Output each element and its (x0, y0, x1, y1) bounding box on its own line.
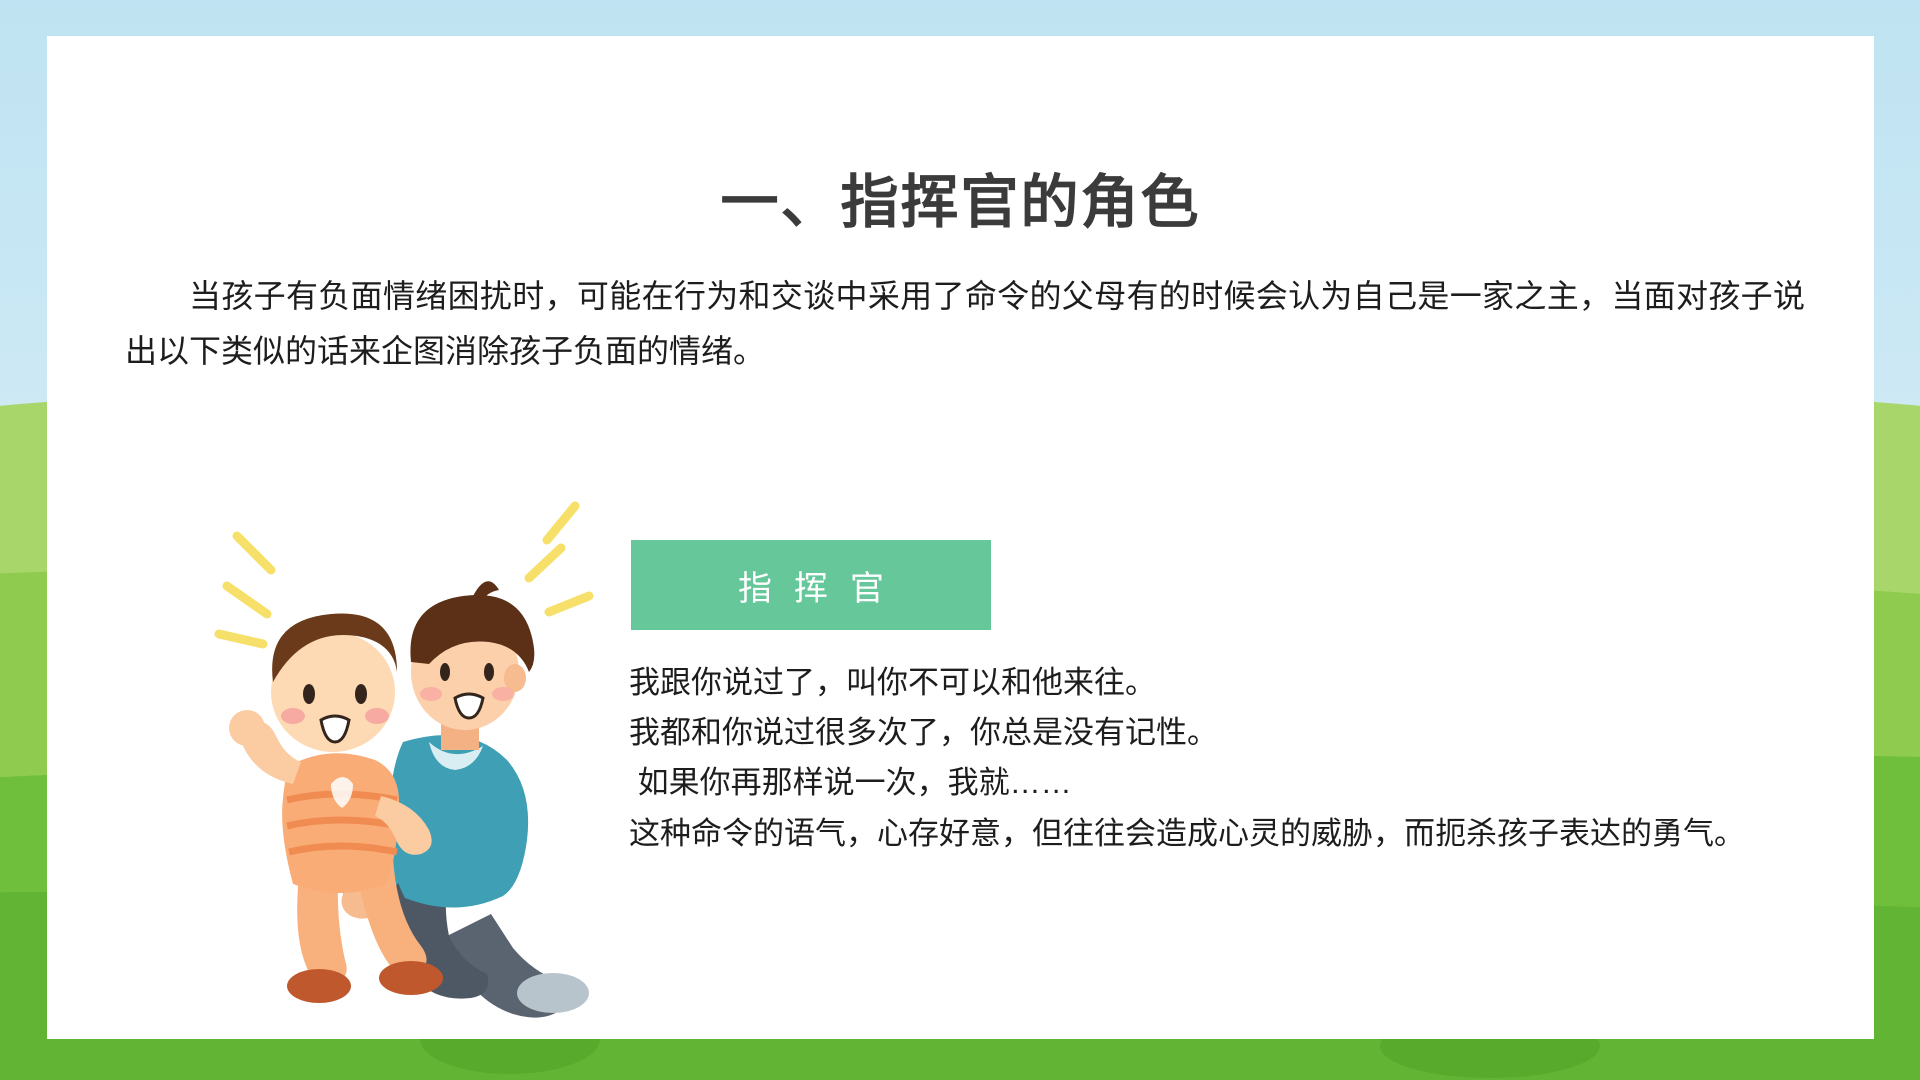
toddler-eye-left (303, 684, 315, 704)
toddler-shoe-left (287, 969, 351, 1003)
intro-paragraph: 当孩子有负面情绪困扰时，可能在行为和交谈中采用了命令的父母有的时候会认为自己是一… (125, 269, 1805, 379)
father-holding-toddler-illustration (197, 466, 617, 1026)
slide-canvas: 一、指挥官的角色 当孩子有负面情绪困扰时，可能在行为和交谈中采用了命令的父母有的… (0, 0, 1920, 1080)
list-item: 我都和你说过很多次了，你总是没有记性。 (629, 708, 1809, 758)
toddler-hand-left (229, 710, 265, 746)
page-title: 一、指挥官的角色 (47, 174, 1874, 232)
toddler-blush-right (365, 708, 389, 724)
list-item: 这种命令的语气，心存好意，但往往会造成心灵的威胁，而扼杀孩子表达的勇气。 (629, 809, 1809, 859)
status-badge: 指挥官 (631, 540, 991, 630)
quote-list: 我跟你说过了，叫你不可以和他来往。 我都和你说过很多次了，你总是没有记性。 如果… (629, 658, 1809, 859)
father-shoe-back (517, 973, 589, 1013)
father-eye-right (484, 663, 494, 681)
list-item: 如果你再那样说一次，我就…… (629, 758, 1809, 808)
father-eye-left (440, 663, 450, 681)
content-card: 一、指挥官的角色 当孩子有负面情绪困扰时，可能在行为和交谈中采用了命令的父母有的… (47, 36, 1874, 1039)
spark-lines-icon (219, 506, 589, 644)
badge-label: 指挥官 (716, 561, 906, 610)
toddler-eye-right (355, 684, 367, 704)
toddler-shoe-right (379, 961, 443, 995)
list-item: 我跟你说过了，叫你不可以和他来往。 (629, 658, 1809, 708)
father-blush-right (492, 687, 514, 701)
toddler-blush-left (281, 708, 305, 724)
father-blush-left (420, 687, 442, 701)
